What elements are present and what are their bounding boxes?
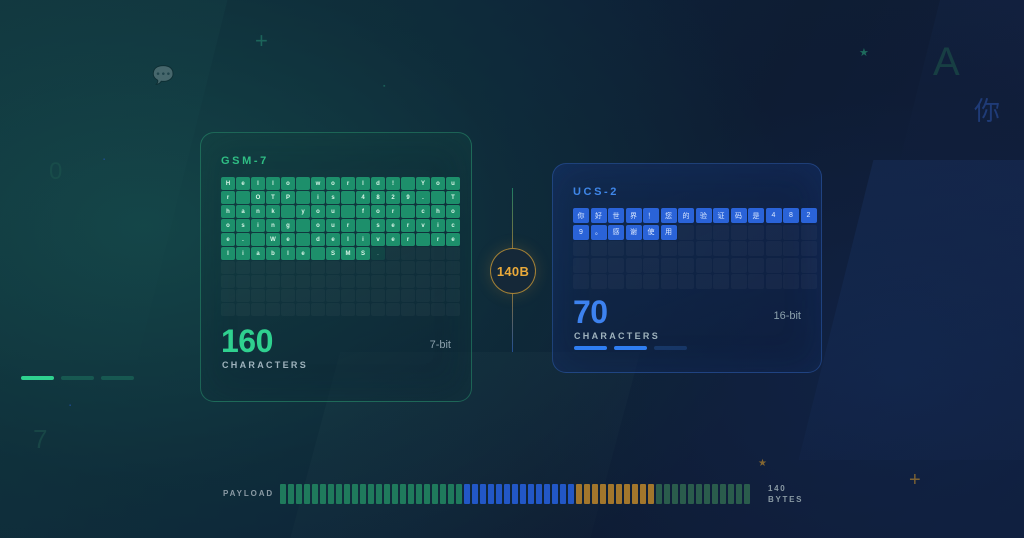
grid-cell: O bbox=[251, 191, 265, 204]
grid-cell: 谢 bbox=[626, 225, 642, 240]
grid-cell: l bbox=[281, 247, 295, 260]
grid-cell: i bbox=[356, 233, 370, 246]
grid-cell: i bbox=[431, 219, 445, 232]
grid-cell bbox=[696, 241, 712, 256]
payload-bar bbox=[448, 484, 454, 504]
grid-cell bbox=[766, 274, 782, 289]
grid-cell bbox=[573, 274, 589, 289]
grid-cell bbox=[801, 258, 817, 273]
grid-cell: ！ bbox=[643, 208, 659, 223]
grid-cell bbox=[356, 303, 370, 316]
grid-cell: 你 bbox=[573, 208, 589, 223]
gsm7-segment-indicator bbox=[21, 376, 134, 380]
grid-cell: s bbox=[371, 219, 385, 232]
payload-bar-track bbox=[280, 484, 750, 504]
grid-cell bbox=[326, 275, 340, 288]
grid-cell bbox=[801, 241, 817, 256]
grid-cell bbox=[356, 219, 370, 232]
grid-cell bbox=[341, 303, 355, 316]
grid-cell bbox=[356, 261, 370, 274]
payload-size-badge: 140B bbox=[490, 248, 536, 294]
payload-bar bbox=[328, 484, 334, 504]
payload-total-unit: BYTES bbox=[768, 494, 803, 505]
grid-cell: 使 bbox=[643, 225, 659, 240]
grid-cell: c bbox=[446, 219, 460, 232]
grid-cell: c bbox=[416, 205, 430, 218]
grid-cell: r bbox=[401, 219, 415, 232]
payload-bar bbox=[304, 484, 310, 504]
grid-cell bbox=[221, 303, 235, 316]
payload-bar bbox=[368, 484, 374, 504]
grid-cell bbox=[266, 303, 280, 316]
grid-cell bbox=[341, 289, 355, 302]
grid-cell bbox=[401, 205, 415, 218]
grid-cell: 好 bbox=[591, 208, 607, 223]
grid-cell: T bbox=[266, 191, 280, 204]
payload-bar bbox=[464, 484, 470, 504]
grid-cell bbox=[266, 275, 280, 288]
ucs2-character-grid: 你好世界！您的验证码是4829。感谢使用 bbox=[573, 208, 817, 289]
segment-2 bbox=[61, 376, 94, 380]
grid-cell bbox=[416, 275, 430, 288]
grid-cell bbox=[281, 289, 295, 302]
gsm7-card: GSM-7 Helloworld!YourOTPis4829.Thankyouf… bbox=[200, 132, 472, 402]
grid-cell bbox=[713, 225, 729, 240]
grid-cell: r bbox=[341, 219, 355, 232]
grid-cell bbox=[626, 241, 642, 256]
grid-cell: s bbox=[236, 219, 250, 232]
grid-cell bbox=[296, 191, 310, 204]
payload-bar bbox=[608, 484, 614, 504]
star-amber-icon: ★ bbox=[758, 459, 767, 469]
grid-cell bbox=[341, 205, 355, 218]
grid-cell bbox=[386, 275, 400, 288]
grid-cell: b bbox=[266, 247, 280, 260]
grid-cell bbox=[236, 289, 250, 302]
payload-total: 140 BYTES bbox=[768, 483, 803, 505]
grid-cell bbox=[661, 258, 677, 273]
grid-cell: W bbox=[266, 233, 280, 246]
grid-cell bbox=[416, 261, 430, 274]
grid-cell bbox=[251, 303, 265, 316]
grid-cell bbox=[591, 258, 607, 273]
payload-bar bbox=[472, 484, 478, 504]
grid-cell: . bbox=[236, 233, 250, 246]
grid-cell: 码 bbox=[731, 208, 747, 223]
payload-bar bbox=[312, 484, 318, 504]
grid-cell: 4 bbox=[766, 208, 782, 223]
grid-cell: 证 bbox=[713, 208, 729, 223]
grid-cell bbox=[251, 261, 265, 274]
ucs2-segment-indicator bbox=[574, 346, 687, 350]
grid-cell: . bbox=[416, 191, 430, 204]
grid-cell bbox=[766, 258, 782, 273]
gsm7-character-grid: Helloworld!YourOTPis4829.Thankyouforchoo… bbox=[221, 177, 460, 316]
grid-cell bbox=[236, 275, 250, 288]
connector-line-bottom bbox=[512, 292, 513, 352]
grid-cell: e bbox=[236, 177, 250, 190]
gsm7-bit-label: 7-bit bbox=[430, 339, 451, 351]
segment-3 bbox=[101, 376, 134, 380]
grid-cell: S bbox=[356, 247, 370, 260]
payload-bar bbox=[520, 484, 526, 504]
grid-cell: 世 bbox=[608, 208, 624, 223]
grid-cell bbox=[696, 274, 712, 289]
grid-cell bbox=[748, 225, 764, 240]
cjk-ni-glyph: 你 bbox=[974, 98, 1000, 124]
digit-zero-glyph: 0 bbox=[49, 160, 62, 184]
grid-cell bbox=[608, 274, 624, 289]
grid-cell: u bbox=[326, 205, 340, 218]
infographic-canvas: +💬▪★A你0▪▪7★+ GSM-7 Helloworld!YourOTPis4… bbox=[0, 0, 1024, 538]
grid-cell: l bbox=[341, 233, 355, 246]
grid-cell: h bbox=[431, 205, 445, 218]
grid-cell: a bbox=[251, 247, 265, 260]
grid-cell bbox=[783, 258, 799, 273]
grid-cell: o bbox=[281, 177, 295, 190]
payload-label: PAYLOAD bbox=[223, 489, 274, 498]
payload-bar bbox=[680, 484, 686, 504]
grid-cell bbox=[678, 258, 694, 273]
payload-bar bbox=[544, 484, 550, 504]
grid-cell bbox=[401, 177, 415, 190]
payload-bar bbox=[344, 484, 350, 504]
payload-bar bbox=[672, 484, 678, 504]
grid-cell bbox=[326, 261, 340, 274]
grid-cell: a bbox=[236, 205, 250, 218]
payload-bar bbox=[384, 484, 390, 504]
grid-cell bbox=[236, 303, 250, 316]
payload-bar bbox=[656, 484, 662, 504]
grid-cell: n bbox=[251, 205, 265, 218]
grid-cell bbox=[341, 191, 355, 204]
payload-bar bbox=[416, 484, 422, 504]
grid-cell bbox=[626, 258, 642, 273]
grid-cell: d bbox=[371, 177, 385, 190]
payload-bar bbox=[632, 484, 638, 504]
grid-cell: 9 bbox=[401, 191, 415, 204]
grid-cell bbox=[783, 274, 799, 289]
grid-cell: 的 bbox=[678, 208, 694, 223]
grid-cell bbox=[341, 261, 355, 274]
grid-cell: n bbox=[266, 219, 280, 232]
grid-cell bbox=[591, 241, 607, 256]
grid-cell: 验 bbox=[696, 208, 712, 223]
bg-slab-top-right bbox=[898, 0, 1024, 170]
payload-bar bbox=[352, 484, 358, 504]
grid-cell: o bbox=[311, 219, 325, 232]
payload-bar bbox=[408, 484, 414, 504]
grid-cell bbox=[591, 274, 607, 289]
grid-cell bbox=[341, 275, 355, 288]
payload-bar bbox=[400, 484, 406, 504]
grid-cell bbox=[296, 261, 310, 274]
grid-cell: u bbox=[446, 177, 460, 190]
grid-cell bbox=[311, 289, 325, 302]
grid-cell: ! bbox=[386, 177, 400, 190]
digit-seven-glyph: 7 bbox=[33, 426, 47, 452]
payload-bar bbox=[320, 484, 326, 504]
grid-cell bbox=[748, 241, 764, 256]
grid-cell: f bbox=[356, 205, 370, 218]
grid-cell bbox=[236, 261, 250, 274]
grid-cell bbox=[643, 274, 659, 289]
grid-cell bbox=[296, 233, 310, 246]
grid-cell bbox=[281, 205, 295, 218]
grid-cell bbox=[281, 261, 295, 274]
grid-cell: 8 bbox=[783, 208, 799, 223]
grid-cell bbox=[416, 233, 430, 246]
payload-bar bbox=[568, 484, 574, 504]
payload-bar bbox=[432, 484, 438, 504]
payload-bar bbox=[296, 484, 302, 504]
grid-cell: r bbox=[431, 233, 445, 246]
grid-cell: S bbox=[326, 247, 340, 260]
segment-3 bbox=[654, 346, 687, 350]
grid-cell bbox=[766, 225, 782, 240]
grid-cell: o bbox=[446, 205, 460, 218]
grid-cell bbox=[281, 275, 295, 288]
payload-bar bbox=[640, 484, 646, 504]
segment-2 bbox=[614, 346, 647, 350]
grid-cell: w bbox=[311, 177, 325, 190]
letter-a-glyph: A bbox=[933, 42, 960, 82]
grid-cell: l bbox=[266, 177, 280, 190]
grid-cell bbox=[281, 303, 295, 316]
grid-cell: e bbox=[326, 233, 340, 246]
grid-cell: l bbox=[221, 247, 235, 260]
grid-cell: o bbox=[326, 177, 340, 190]
payload-bar bbox=[376, 484, 382, 504]
grid-cell: 。 bbox=[591, 225, 607, 240]
grid-cell bbox=[661, 274, 677, 289]
grid-cell bbox=[661, 241, 677, 256]
grid-cell bbox=[696, 258, 712, 273]
grid-cell bbox=[311, 303, 325, 316]
grid-cell bbox=[356, 275, 370, 288]
grid-cell bbox=[431, 191, 445, 204]
grid-cell: r bbox=[221, 191, 235, 204]
grid-cell bbox=[386, 289, 400, 302]
payload-bar bbox=[496, 484, 502, 504]
grid-cell: 您 bbox=[661, 208, 677, 223]
grid-cell: k bbox=[266, 205, 280, 218]
grid-cell: l bbox=[356, 177, 370, 190]
grid-cell bbox=[431, 261, 445, 274]
grid-cell: 4 bbox=[356, 191, 370, 204]
grid-cell bbox=[713, 241, 729, 256]
grid-cell bbox=[643, 258, 659, 273]
payload-bar bbox=[712, 484, 718, 504]
grid-cell: e bbox=[281, 233, 295, 246]
grid-cell: 感 bbox=[608, 225, 624, 240]
grid-cell bbox=[266, 261, 280, 274]
grid-cell: y bbox=[296, 205, 310, 218]
grid-cell: e bbox=[221, 233, 235, 246]
star-green-icon: ★ bbox=[859, 48, 869, 59]
grid-cell bbox=[678, 274, 694, 289]
dot-green-icon: ▪ bbox=[383, 83, 385, 90]
grid-cell bbox=[573, 241, 589, 256]
grid-cell: 8 bbox=[371, 191, 385, 204]
ucs2-bit-label: 16-bit bbox=[773, 310, 801, 322]
ucs2-count-label: CHARACTERS bbox=[574, 331, 660, 341]
grid-cell: . bbox=[371, 247, 385, 260]
segment-1 bbox=[21, 376, 54, 380]
grid-cell bbox=[401, 303, 415, 316]
payload-bar bbox=[552, 484, 558, 504]
segment-1 bbox=[574, 346, 607, 350]
grid-cell bbox=[371, 275, 385, 288]
ucs2-card-title: UCS-2 bbox=[573, 186, 619, 198]
payload-bar bbox=[560, 484, 566, 504]
grid-cell bbox=[221, 275, 235, 288]
payload-bar bbox=[424, 484, 430, 504]
dot-blue-2-icon: ▪ bbox=[69, 403, 71, 409]
dot-blue-icon: ▪ bbox=[103, 157, 105, 163]
grid-cell: s bbox=[326, 191, 340, 204]
grid-cell bbox=[386, 303, 400, 316]
grid-cell bbox=[446, 289, 460, 302]
grid-cell bbox=[371, 261, 385, 274]
grid-cell bbox=[251, 233, 265, 246]
grid-cell bbox=[608, 241, 624, 256]
grid-cell bbox=[296, 303, 310, 316]
chat-bubble-icon: 💬 bbox=[152, 66, 174, 84]
grid-cell bbox=[401, 247, 415, 260]
grid-cell bbox=[766, 241, 782, 256]
grid-cell bbox=[296, 289, 310, 302]
payload-bar bbox=[528, 484, 534, 504]
grid-cell bbox=[266, 289, 280, 302]
payload-bar bbox=[592, 484, 598, 504]
grid-cell: i bbox=[311, 191, 325, 204]
grid-cell: r bbox=[401, 233, 415, 246]
grid-cell bbox=[416, 247, 430, 260]
grid-cell: h bbox=[221, 205, 235, 218]
grid-cell bbox=[626, 274, 642, 289]
grid-cell bbox=[731, 225, 747, 240]
grid-cell: 界 bbox=[626, 208, 642, 223]
grid-cell bbox=[446, 247, 460, 260]
payload-bar bbox=[696, 484, 702, 504]
grid-cell: o bbox=[371, 205, 385, 218]
grid-cell bbox=[221, 289, 235, 302]
payload-bar bbox=[480, 484, 486, 504]
grid-cell bbox=[401, 275, 415, 288]
ucs2-character-count: 70 bbox=[573, 294, 608, 331]
payload-bar bbox=[744, 484, 750, 504]
grid-cell bbox=[573, 258, 589, 273]
grid-cell: e bbox=[446, 233, 460, 246]
grid-cell bbox=[326, 289, 340, 302]
grid-cell bbox=[401, 261, 415, 274]
payload-bar bbox=[576, 484, 582, 504]
grid-cell bbox=[416, 303, 430, 316]
grid-cell: M bbox=[341, 247, 355, 260]
grid-cell: v bbox=[416, 219, 430, 232]
grid-cell bbox=[251, 289, 265, 302]
grid-cell bbox=[371, 303, 385, 316]
grid-cell bbox=[748, 258, 764, 273]
grid-cell bbox=[296, 177, 310, 190]
grid-cell bbox=[608, 258, 624, 273]
grid-cell bbox=[678, 241, 694, 256]
grid-cell: e bbox=[386, 233, 400, 246]
payload-bar bbox=[504, 484, 510, 504]
grid-cell bbox=[431, 247, 445, 260]
grid-cell bbox=[783, 225, 799, 240]
grid-cell bbox=[311, 247, 325, 260]
payload-bar bbox=[624, 484, 630, 504]
grid-cell bbox=[326, 303, 340, 316]
payload-bar bbox=[456, 484, 462, 504]
plus-green-icon: + bbox=[255, 30, 268, 52]
gsm7-count-label: CHARACTERS bbox=[222, 360, 308, 370]
grid-cell bbox=[446, 261, 460, 274]
grid-cell bbox=[748, 274, 764, 289]
grid-cell: u bbox=[326, 219, 340, 232]
grid-cell: o bbox=[311, 205, 325, 218]
grid-cell: P bbox=[281, 191, 295, 204]
payload-bar bbox=[440, 484, 446, 504]
gsm7-card-title: GSM-7 bbox=[221, 155, 269, 167]
grid-cell bbox=[713, 274, 729, 289]
grid-cell bbox=[446, 275, 460, 288]
grid-cell bbox=[401, 289, 415, 302]
grid-cell: i bbox=[251, 219, 265, 232]
grid-cell: l bbox=[251, 177, 265, 190]
grid-cell bbox=[713, 258, 729, 273]
grid-cell: e bbox=[296, 247, 310, 260]
grid-cell: r bbox=[341, 177, 355, 190]
payload-bar bbox=[736, 484, 742, 504]
grid-cell bbox=[801, 274, 817, 289]
bg-slab-right bbox=[799, 160, 1024, 460]
grid-cell bbox=[783, 241, 799, 256]
grid-cell: T bbox=[446, 191, 460, 204]
grid-cell bbox=[696, 225, 712, 240]
connector-line-top bbox=[512, 188, 513, 248]
grid-cell: e bbox=[386, 219, 400, 232]
grid-cell: o bbox=[221, 219, 235, 232]
grid-cell: r bbox=[386, 205, 400, 218]
payload-bar bbox=[720, 484, 726, 504]
grid-cell bbox=[431, 275, 445, 288]
payload-bar bbox=[616, 484, 622, 504]
grid-cell bbox=[801, 225, 817, 240]
payload-bar bbox=[336, 484, 342, 504]
payload-bar bbox=[704, 484, 710, 504]
grid-cell bbox=[296, 219, 310, 232]
grid-cell bbox=[731, 241, 747, 256]
grid-cell bbox=[678, 225, 694, 240]
grid-cell bbox=[431, 289, 445, 302]
grid-cell bbox=[251, 275, 265, 288]
grid-cell bbox=[311, 261, 325, 274]
payload-bar bbox=[392, 484, 398, 504]
payload-bar bbox=[512, 484, 518, 504]
grid-cell: 是 bbox=[748, 208, 764, 223]
grid-cell: i bbox=[236, 247, 250, 260]
payload-bar bbox=[288, 484, 294, 504]
grid-cell: 9 bbox=[573, 225, 589, 240]
payload-bar bbox=[688, 484, 694, 504]
grid-cell bbox=[236, 191, 250, 204]
grid-cell: 用 bbox=[661, 225, 677, 240]
grid-cell bbox=[731, 274, 747, 289]
grid-cell bbox=[731, 258, 747, 273]
